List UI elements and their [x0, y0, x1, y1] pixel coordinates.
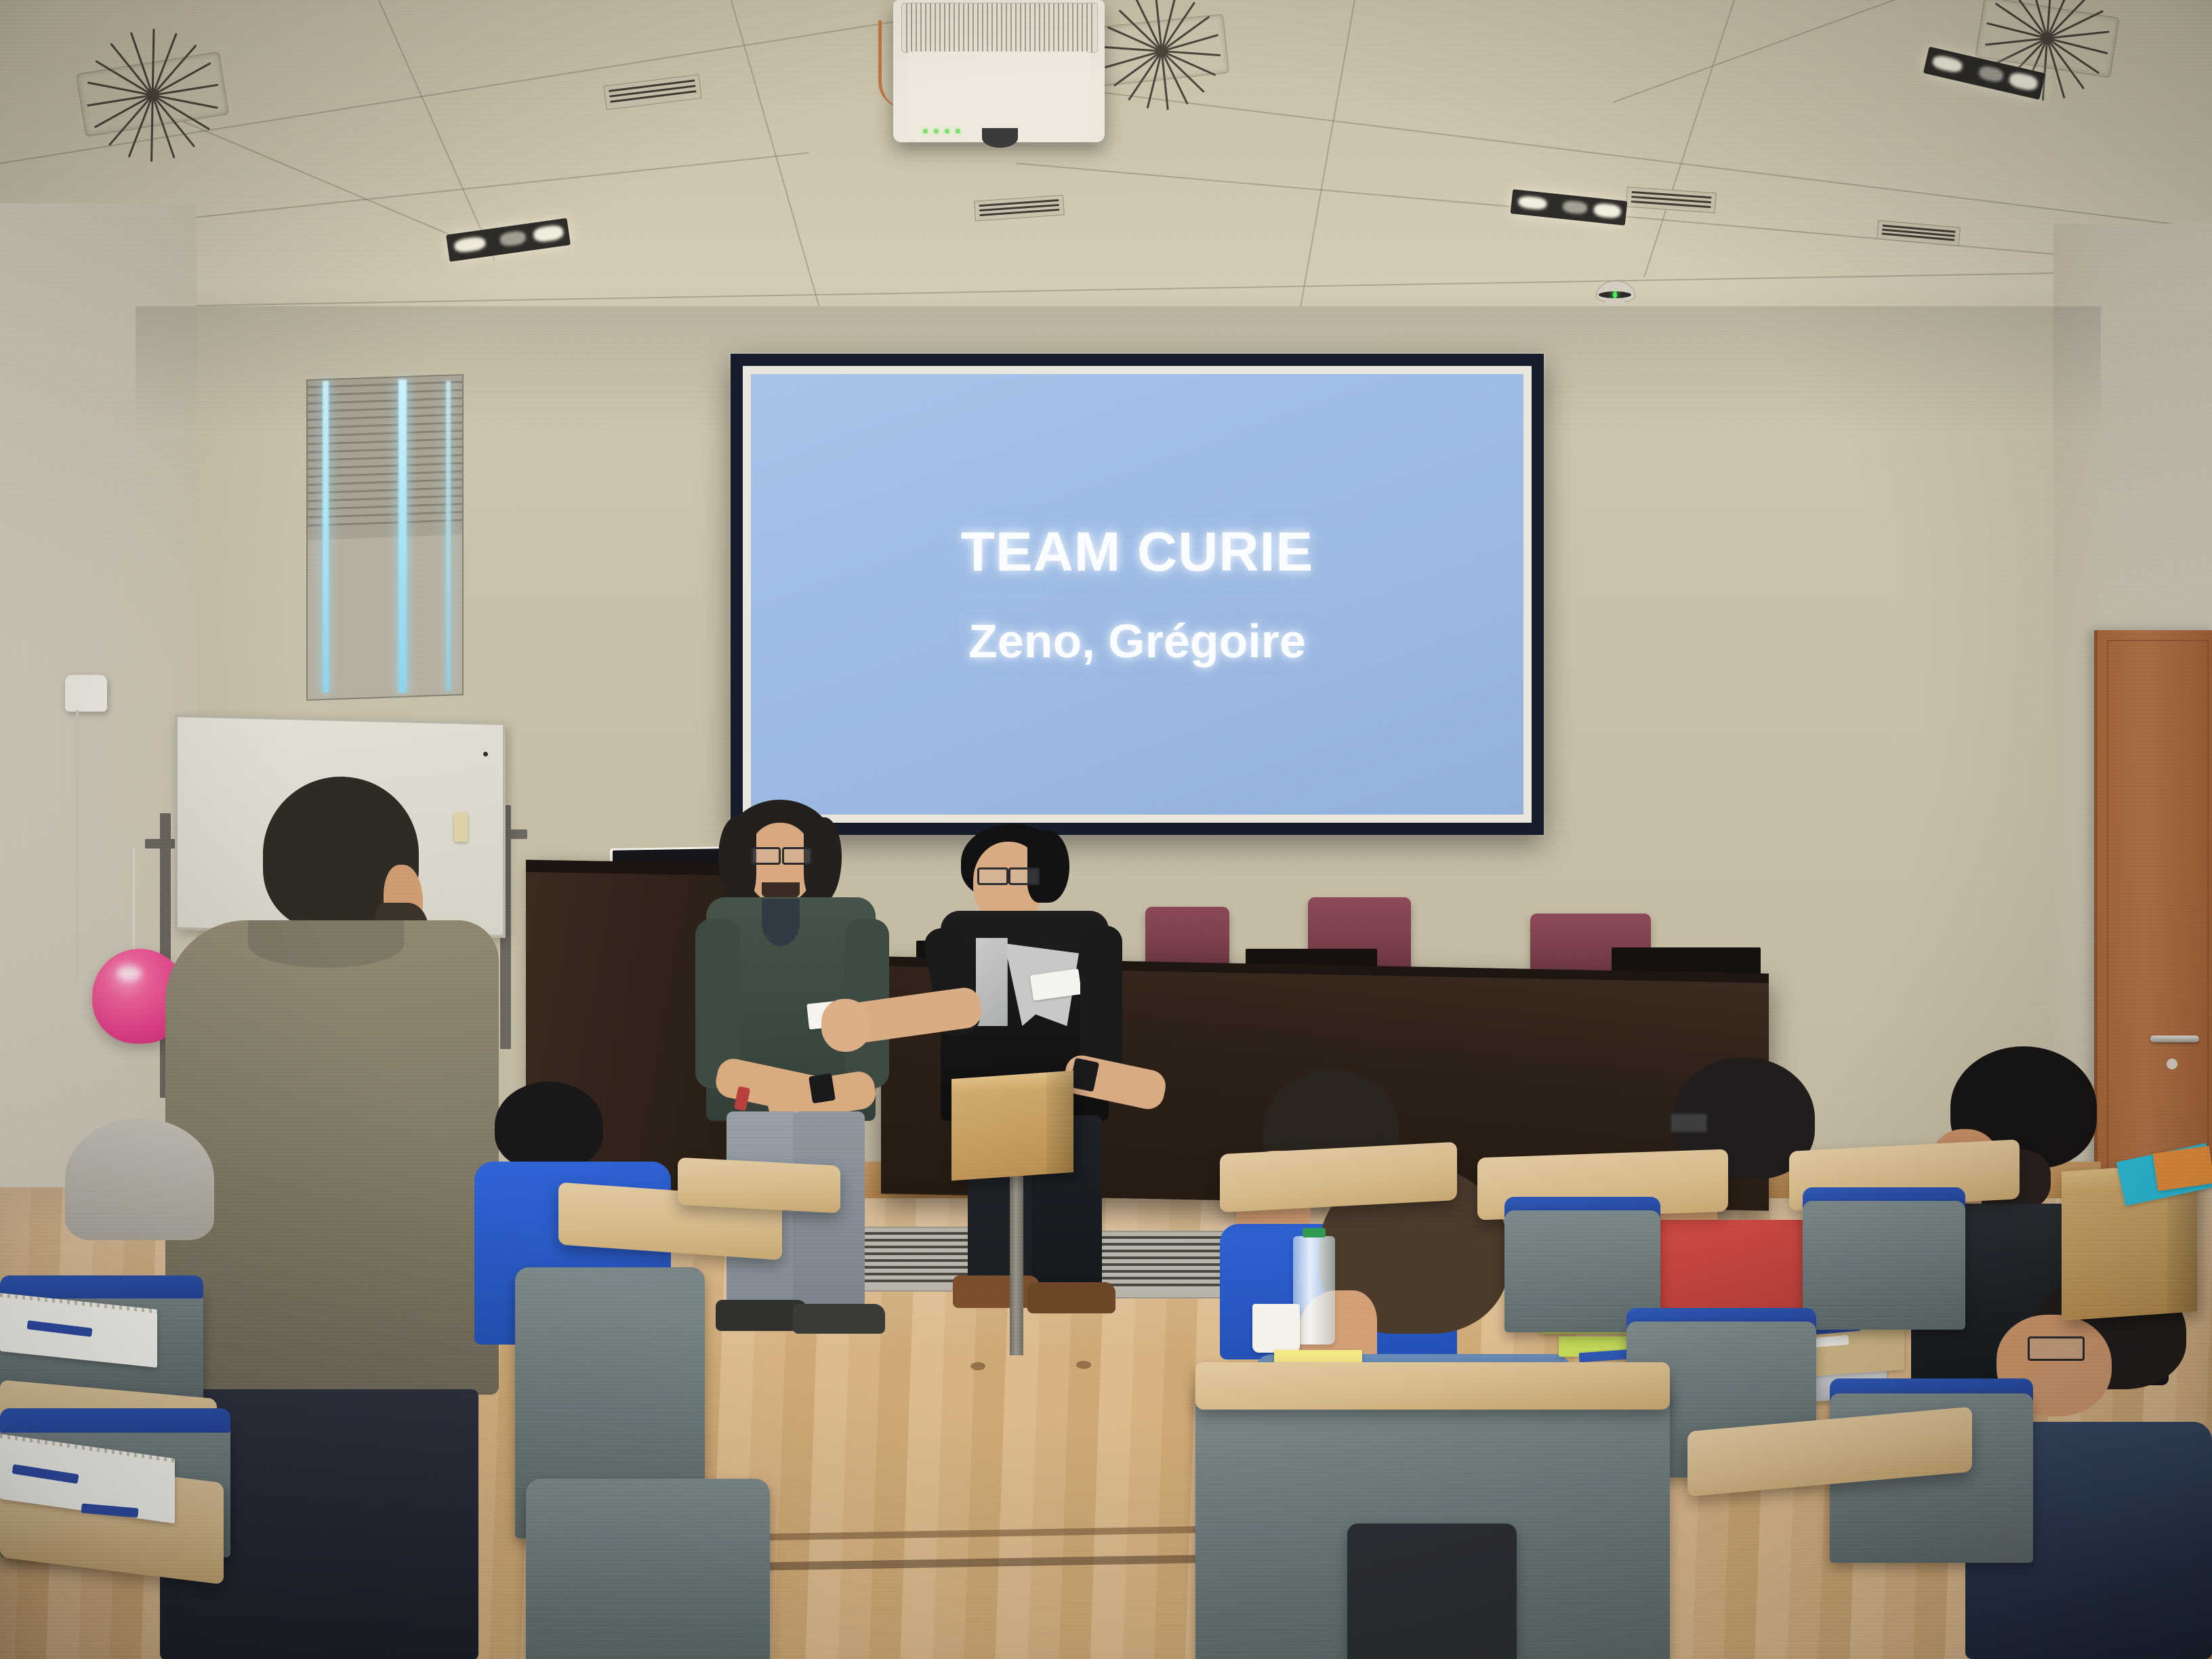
auditorium-seat-cushion[interactable]	[0, 1275, 203, 1298]
glasses-icon	[1670, 1113, 1708, 1133]
window-blinds	[306, 374, 464, 701]
auditorium-seat-cushion[interactable]	[0, 1408, 230, 1433]
presenter-right-hand	[821, 999, 872, 1052]
collar	[248, 920, 404, 968]
glasses-icon	[1008, 867, 1040, 885]
floor-anchor-point	[1076, 1361, 1091, 1369]
auditorium-desk	[1195, 1362, 1670, 1410]
daylight-slit	[323, 381, 329, 693]
projector-status-leds	[923, 129, 960, 134]
standing-man-torso	[165, 920, 499, 1395]
auditorium-seat[interactable]	[1347, 1523, 1517, 1659]
wristwatch	[808, 1073, 836, 1104]
projector-body	[908, 52, 1090, 140]
attendee-grey-hood	[65, 1118, 214, 1261]
daylight-slit	[398, 380, 407, 693]
daylight-slit	[446, 381, 451, 691]
auditorium-desk	[678, 1158, 840, 1214]
speaker-cable	[76, 710, 79, 981]
ceiling-projector	[893, 0, 1105, 142]
auditorium-seat[interactable]	[526, 1479, 770, 1659]
hair	[495, 1082, 603, 1170]
bottle-cap	[1303, 1228, 1326, 1237]
projection-screen: TEAM CURIE Zeno, Grégoire	[731, 354, 1544, 835]
floor-anchor-point	[970, 1362, 985, 1370]
whiteboard-magnet	[483, 752, 488, 756]
glasses-icon	[782, 847, 812, 865]
auditorium-desk	[1220, 1142, 1457, 1212]
auditorium-seat[interactable]	[1803, 1201, 1965, 1330]
presenter-right-shoe	[1027, 1282, 1115, 1313]
wall-speaker	[65, 675, 107, 712]
collar	[762, 899, 800, 946]
hoodie-hood	[65, 1118, 214, 1240]
slide-title: TEAM CURIE	[961, 520, 1313, 584]
coffee-cup[interactable]	[1252, 1304, 1300, 1353]
projector-grille	[901, 3, 1097, 52]
presenter-left-shoe	[793, 1304, 885, 1334]
presentation-slide: TEAM CURIE Zeno, Grégoire	[751, 374, 1523, 815]
door-handle-icon[interactable]	[2150, 1036, 2199, 1042]
glasses-icon	[751, 847, 781, 865]
glasses-icon	[2028, 1336, 2085, 1361]
presenter-right-hair-side	[1027, 831, 1069, 903]
colored-sheet	[2153, 1145, 2212, 1191]
slide-subtitle: Zeno, Grégoire	[968, 614, 1306, 668]
cardboard-box-on-stand[interactable]	[951, 1071, 1073, 1181]
glasses-icon	[977, 867, 1008, 885]
presenter-right-shoe	[953, 1275, 1040, 1308]
box-pole-stand	[1010, 1152, 1023, 1355]
lecture-hall-photo: TEAM CURIE Zeno, Grégoire	[0, 0, 2212, 1659]
